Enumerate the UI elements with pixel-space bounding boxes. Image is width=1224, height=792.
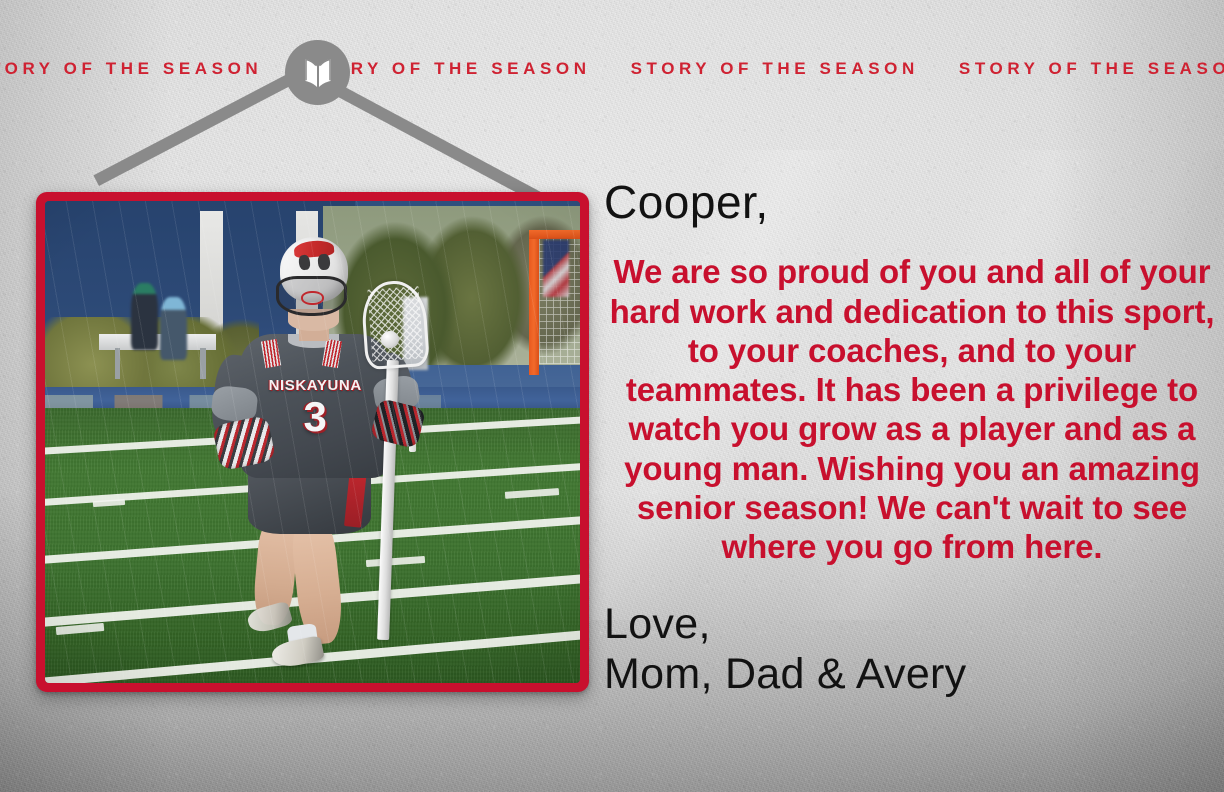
photo-image: NISKAYUNA 3	[45, 201, 580, 683]
message-signoff: Love, Mom, Dad & Avery	[604, 600, 1220, 700]
photo-table-leg	[115, 348, 121, 379]
photo-jersey-team-name: NISKAYUNA	[240, 377, 390, 394]
signoff-line-2: Mom, Dad & Avery	[604, 650, 1220, 700]
story-of-the-season-card: STORY OF THE SEASONSTORY OF THE SEASONST…	[0, 0, 1224, 792]
photo-goal-post	[529, 230, 539, 375]
banner-text-item: STORY OF THE SEASON	[959, 59, 1224, 78]
open-book-icon	[298, 56, 338, 90]
photo-spectator	[160, 297, 187, 360]
message-greeting: Cooper,	[604, 178, 1220, 226]
photo-table-leg	[200, 348, 206, 379]
photo-frame: NISKAYUNA 3	[36, 192, 589, 692]
photo-goal-crossbar	[529, 230, 580, 239]
banner-text-item: STORY OF THE SEASON	[0, 59, 262, 78]
banner-text-item: STORY OF THE SEASON	[631, 59, 919, 78]
photo-helmet-vent	[317, 254, 330, 271]
message-block: Cooper, We are so proud of you and all o…	[604, 178, 1220, 700]
signoff-line-1: Love,	[604, 600, 1220, 650]
photo-spectator	[131, 283, 159, 350]
photo-player-mouthguard	[301, 291, 325, 305]
medallion-badge	[285, 40, 350, 105]
message-body: We are so proud of you and all of your h…	[604, 252, 1220, 566]
story-of-the-season-banner: STORY OF THE SEASONSTORY OF THE SEASONST…	[0, 52, 1224, 86]
photo-lacrosse-mesh	[368, 286, 424, 362]
photo-flag	[543, 240, 570, 298]
banner-text-strip: STORY OF THE SEASONSTORY OF THE SEASONST…	[0, 59, 1224, 79]
